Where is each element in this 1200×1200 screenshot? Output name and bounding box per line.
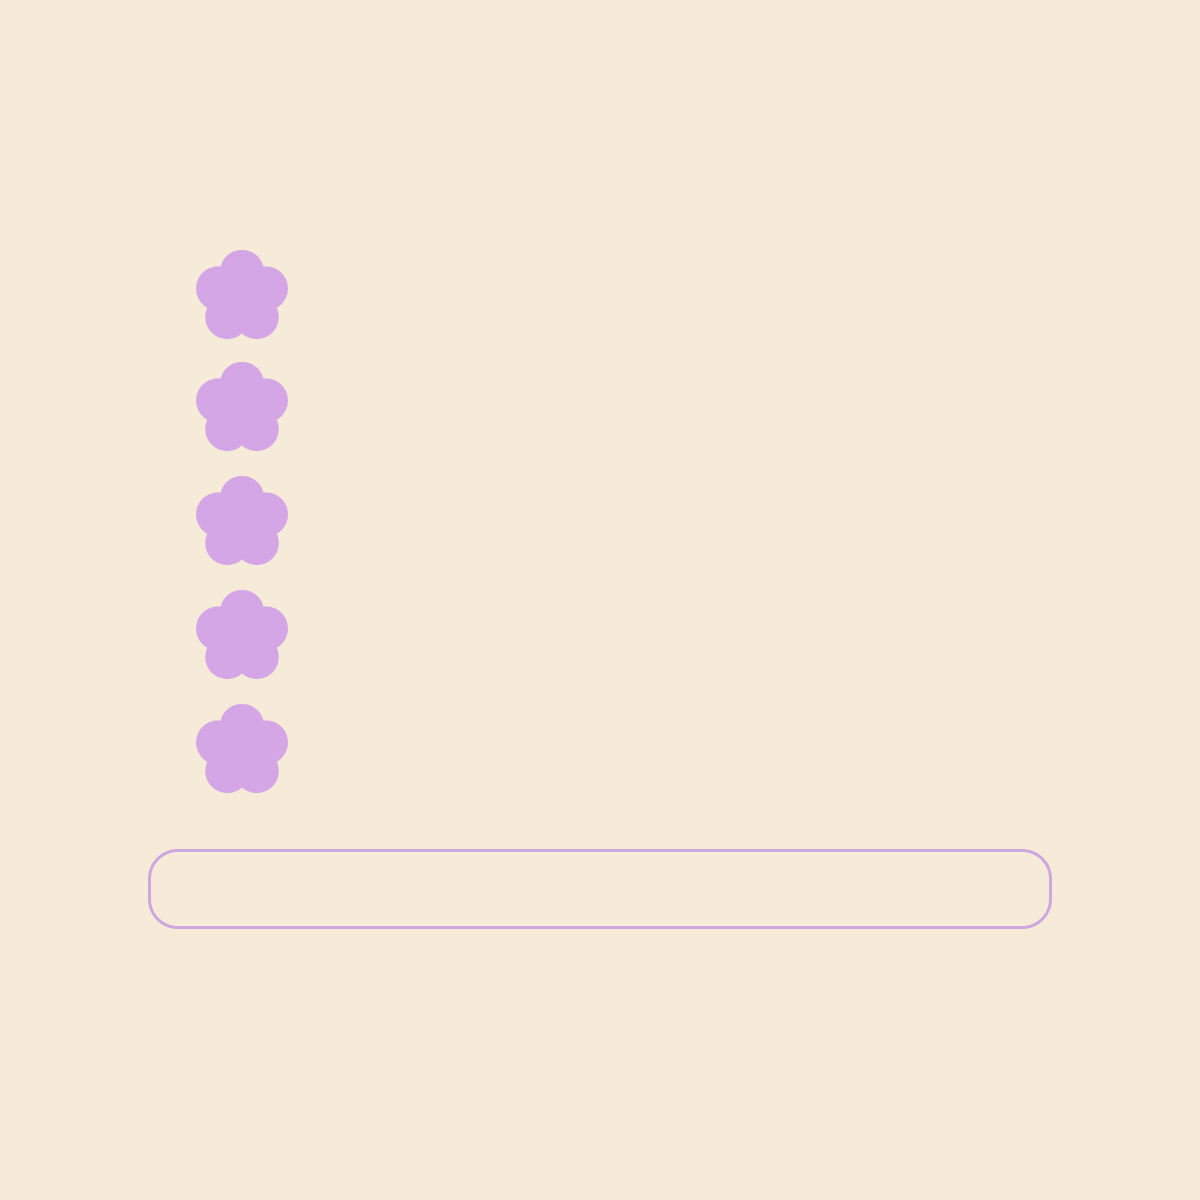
step-number (196, 474, 288, 566)
step-number (196, 588, 288, 680)
step-item (196, 474, 1076, 566)
step-item (196, 360, 1076, 452)
step-item (196, 588, 1076, 680)
step-number (196, 360, 288, 452)
step-badge-flower (196, 588, 288, 680)
step-item (196, 248, 1076, 340)
step-item (196, 702, 1076, 794)
step-badge-flower (196, 702, 288, 794)
step-number (196, 702, 288, 794)
step-number (196, 248, 288, 340)
step-badge-flower (196, 360, 288, 452)
poster-root (0, 0, 1200, 1200)
hair-dye-swatch-photo-strip (0, 940, 1200, 1200)
steps-list (196, 248, 1076, 816)
step-badge-flower (196, 248, 288, 340)
step-badge-flower (196, 474, 288, 566)
pro-tip-callout (148, 849, 1052, 929)
